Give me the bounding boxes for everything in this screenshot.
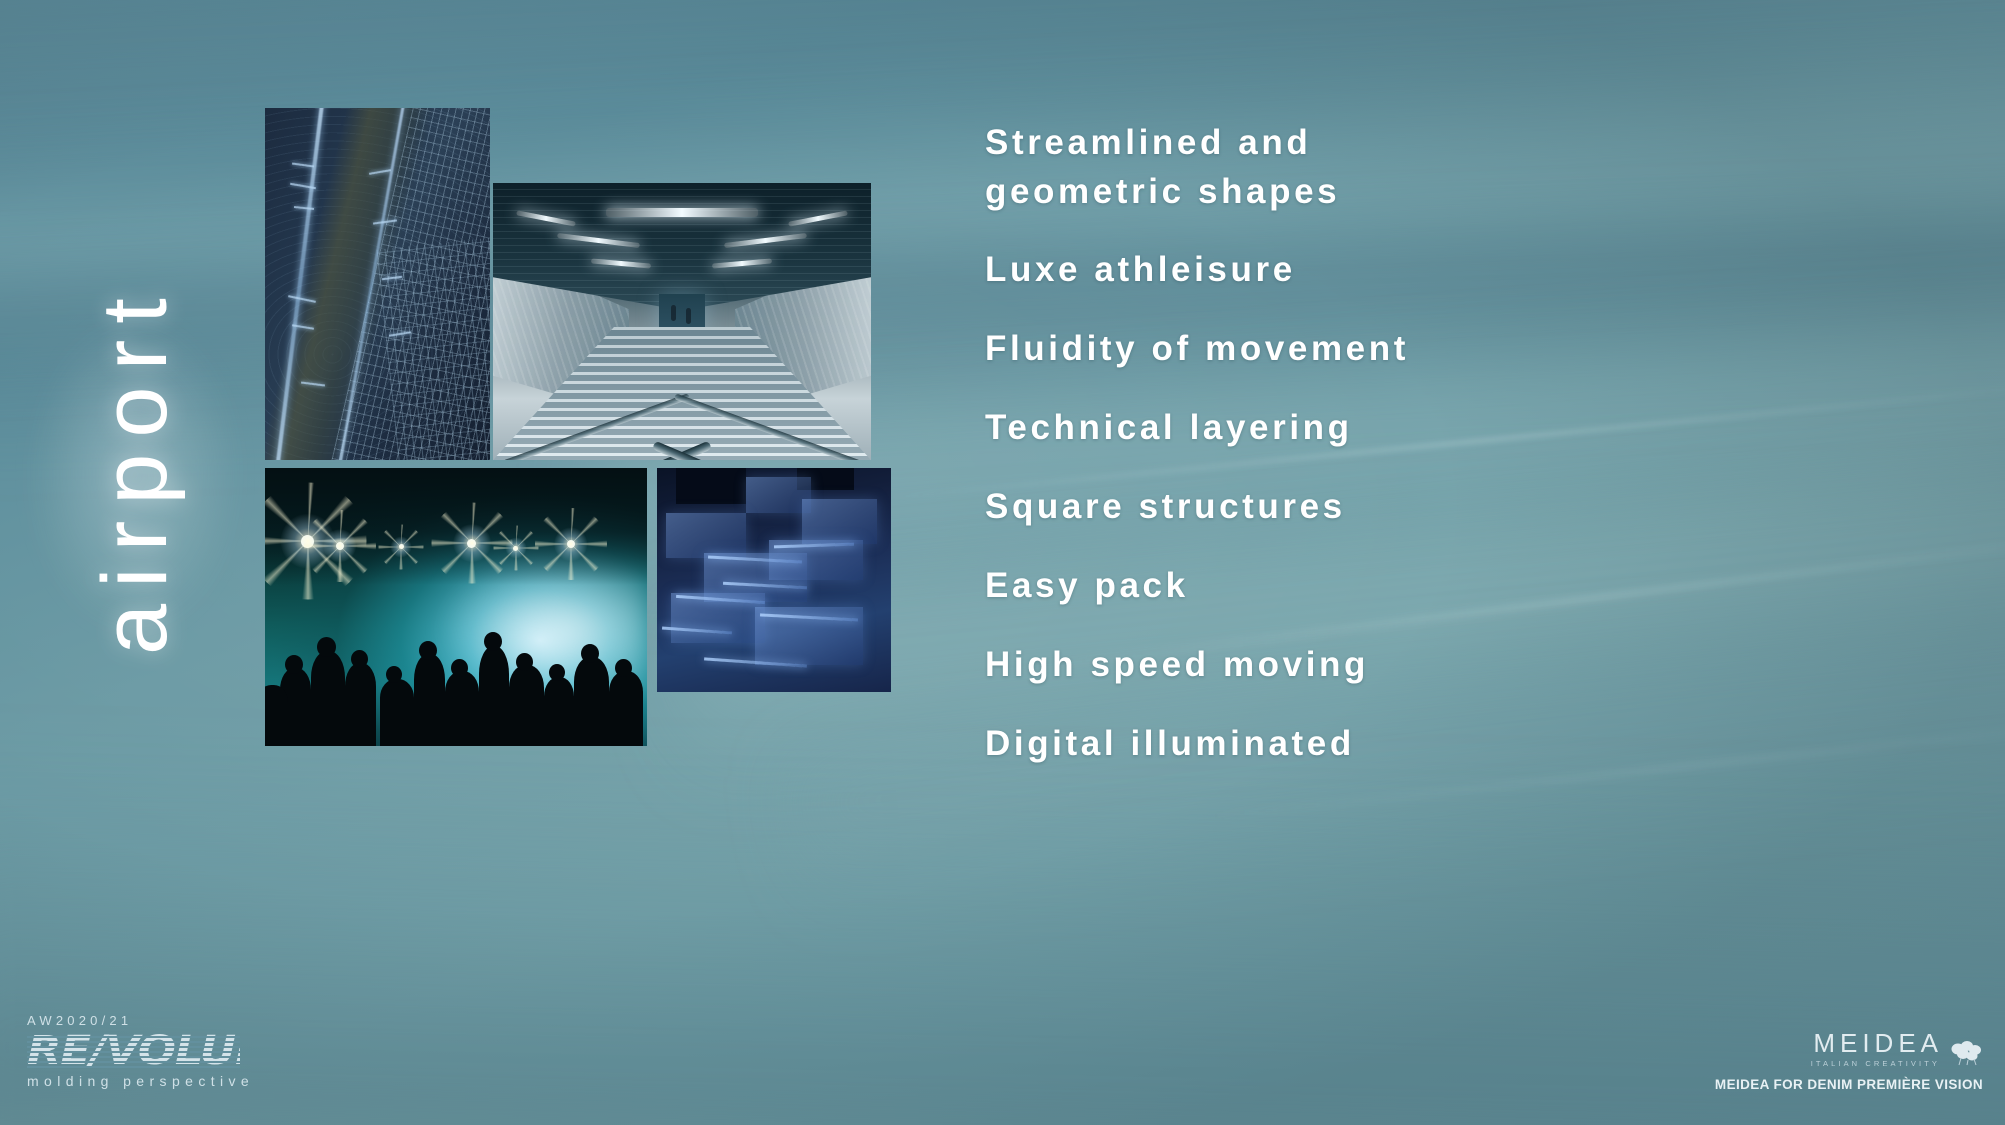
keyword-streamlined-geometric: Streamlined and geometric shapes xyxy=(985,118,1885,216)
keyword-list: Streamlined and geometric shapes Luxe at… xyxy=(985,118,1885,798)
stage-light xyxy=(301,535,314,548)
crowd-silhouette xyxy=(445,671,479,746)
meidea-logo: MEIDEA ITALIAN CREATIVITY xyxy=(1653,1030,1983,1092)
revolume-wordmark-text: RE/VOLUME xyxy=(27,1033,240,1069)
crowd-head xyxy=(285,655,303,674)
traveller-silhouette xyxy=(671,305,676,321)
stage-light xyxy=(467,539,476,548)
meidea-subtitle: ITALIAN CREATIVITY xyxy=(1811,1059,1940,1068)
vertical-title-text: airport xyxy=(70,185,200,655)
ceiling-light-main xyxy=(606,208,757,217)
image-concert-crowd xyxy=(265,468,647,746)
keyword-technical-layering: Technical layering xyxy=(985,403,1885,452)
crowd-silhouette xyxy=(345,663,376,746)
crowd-silhouette xyxy=(509,665,543,746)
keyword-fluidity-of-movement: Fluidity of movement xyxy=(985,324,1885,373)
stage-light xyxy=(336,542,344,550)
crowd-silhouette xyxy=(479,646,510,746)
keyword-high-speed-moving: High speed moving xyxy=(985,640,1885,689)
meidea-name: MEIDEA xyxy=(1811,1030,1943,1056)
crowd-head xyxy=(317,637,336,657)
image-escalator-corridor xyxy=(493,183,871,460)
crowd-silhouette xyxy=(265,685,288,746)
steps-dark-block xyxy=(676,468,746,504)
crowd-silhouette xyxy=(380,679,414,746)
keyword-digital-illuminated: Digital illuminated xyxy=(985,719,1885,768)
crowd-head xyxy=(351,650,368,668)
crowd-silhouette xyxy=(574,657,608,746)
page-title: airport xyxy=(70,185,200,655)
crowd-head xyxy=(549,664,565,681)
keyword-easy-pack: Easy pack xyxy=(985,561,1885,610)
crowd-silhouette xyxy=(609,671,643,746)
crowd-head xyxy=(516,653,533,671)
traveller-silhouette xyxy=(686,308,691,324)
crowd-head xyxy=(615,659,632,677)
stage-light xyxy=(567,540,575,548)
revolume-tagline: molding perspective xyxy=(27,1073,327,1089)
crowd-silhouette xyxy=(414,654,445,746)
crowd-silhouette xyxy=(544,677,575,747)
stage-light xyxy=(399,544,404,549)
revolume-wordmark: RE/VOLUME xyxy=(27,1033,240,1069)
crowd-silhouette xyxy=(311,651,345,746)
revolume-logo: AW2020/21 RE/VOLUME molding perspective xyxy=(27,1013,327,1089)
presentation-slide: airport xyxy=(0,0,2005,1125)
meidea-logo-row: MEIDEA ITALIAN CREATIVITY xyxy=(1653,1030,1983,1068)
image-aerial-city-map xyxy=(265,108,490,460)
keyword-luxe-athleisure: Luxe athleisure xyxy=(985,245,1885,294)
revolume-season-label: AW2020/21 xyxy=(27,1013,327,1028)
cotton-flower-icon xyxy=(1949,1040,1983,1066)
crowd-head xyxy=(581,644,599,663)
steps-block xyxy=(802,499,877,544)
image-blue-steps xyxy=(657,468,891,692)
stage-light xyxy=(513,546,518,551)
crowd-head xyxy=(451,659,468,677)
keyword-square-structures: Square structures xyxy=(985,482,1885,531)
steps-block xyxy=(666,513,746,558)
meidea-caption: MEIDEA FOR DENIM PREMIÈRE VISION xyxy=(1653,1077,1983,1092)
